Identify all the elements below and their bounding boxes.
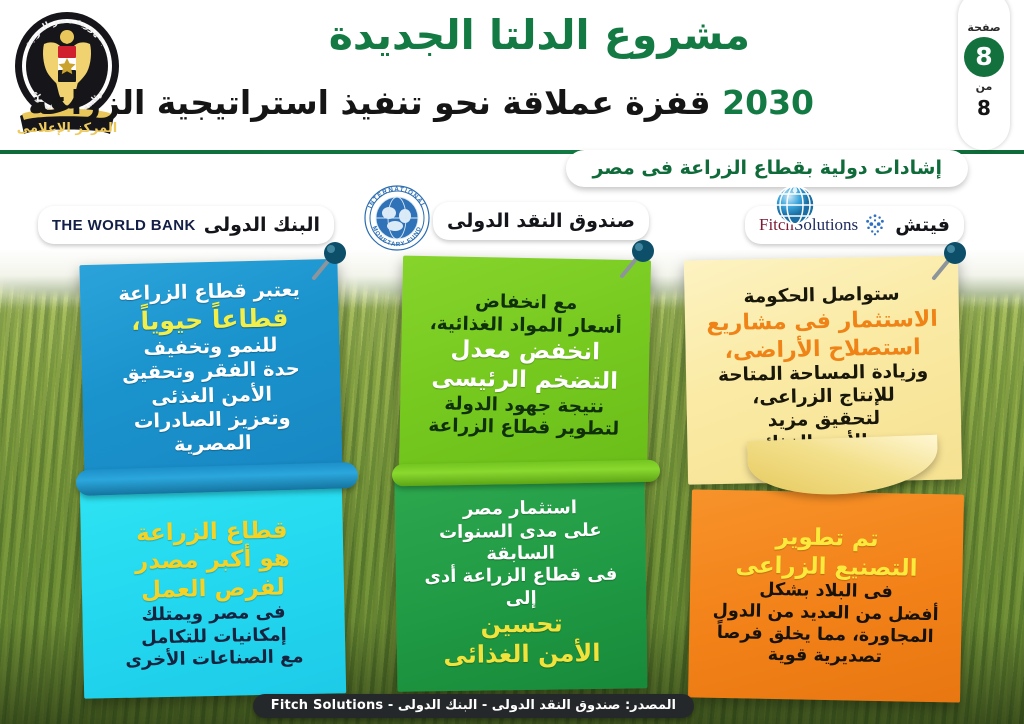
card-imf-bottom: استثمار مصر على مدى السنوات السابقة فى ق…: [395, 476, 648, 691]
page-indicator: صفحة 8 من 8: [958, 0, 1010, 150]
page-subtitle: 2030 قفزة عملاقة نحو تنفيذ استراتيجية ال…: [28, 84, 814, 122]
card-line: تصديرية قوية: [712, 644, 938, 670]
pushpin-icon-fitch: [924, 240, 968, 284]
card-line: حدة الفقر وتحقيق: [120, 357, 302, 386]
card-line-highlight: قطاع الزراعة: [122, 516, 301, 548]
infographic-page: جمهورية مصر العربية رئاسة مجلس الوزراء ا…: [0, 0, 1024, 724]
world-bank-globe-icon: [770, 180, 820, 230]
subtitle-year: 2030: [722, 83, 814, 122]
card-text: تم تطوير التصنيع الزراعى فى البلاد بشكل …: [712, 522, 941, 670]
card-line: لتطوير قطاع الزراعة: [428, 416, 620, 443]
page-title: مشروع الدلتا الجديدة: [329, 12, 750, 59]
card-roll-edge-green: [392, 460, 660, 487]
subtitle-text: قفزة عملاقة نحو تنفيذ استراتيجية الزراعة: [28, 83, 710, 122]
card-line-highlight: الاستثمار فى مشاريع: [706, 306, 938, 338]
page-indicator-current: 8: [964, 37, 1004, 77]
card-line-highlight: تم تطوير: [714, 522, 940, 555]
org-header-world-bank: البنك الدولى THE WORLD BANK: [38, 206, 334, 244]
card-line-highlight: قطاعاً حيوياً،: [119, 302, 301, 337]
card-text: ستواصل الحكومة الاستثمار فى مشاريع استصل…: [706, 283, 941, 457]
org-name-fitch: فيتش: [895, 214, 950, 236]
org-name-world-bank: البنك الدولى: [204, 214, 320, 236]
source-footer: المصدر: صندوق النقد الدولى - البنك الدول…: [253, 694, 694, 718]
card-line: فى مصر ويمتلك: [124, 601, 303, 627]
card-text: يعتبر قطاع الزراعة قطاعاً حيوياً، للنمو …: [118, 278, 304, 458]
pushpin-icon-imf: [612, 238, 656, 282]
card-line: المجاورة، مما يخلق فرصاً: [712, 622, 938, 648]
card-text: استثمار مصر على مدى السنوات السابقة فى ق…: [407, 497, 635, 671]
card-text: مع انخفاض أسعار المواد الغذائية، انخفض م…: [428, 290, 623, 442]
svg-text:المركز الإعلامى: المركز الإعلامى: [17, 121, 117, 136]
org-header-imf: صندوق النقد الدولى: [433, 202, 649, 240]
egypt-cabinet-media-center-logo: جمهورية مصر العربية رئاسة مجلس الوزراء ا…: [8, 4, 126, 144]
card-world-bank-top: يعتبر قطاع الزراعة قطاعاً حيوياً، للنمو …: [79, 259, 342, 481]
page-indicator-of: من: [976, 80, 993, 93]
pushpin-icon-world-bank: [304, 240, 348, 284]
card-line-highlight: هو أكبر مصدر: [123, 544, 302, 576]
card-line: وزيادة المساحة المتاحة: [707, 361, 939, 388]
card-line: المصرية: [122, 430, 304, 459]
world-bank-wordmark: THE WORLD BANK: [52, 217, 196, 234]
card-fitch-bottom: تم تطوير التصنيع الزراعى فى البلاد بشكل …: [688, 489, 964, 702]
card-line-highlight: الأمن الغذائى: [409, 638, 635, 671]
section-banner: إشادات دولية بقطاع الزراعة فى مصر: [566, 150, 968, 187]
card-line: مع الصناعات الأخرى: [125, 646, 304, 672]
card-line-highlight: تحسين: [408, 608, 634, 641]
card-line-highlight: التضخم الرئيسى: [428, 364, 621, 396]
card-line-highlight: لفرص العمل: [124, 573, 303, 605]
card-line-highlight: استصلاح الأراضى،: [707, 333, 939, 365]
card-world-bank-bottom: قطاع الزراعة هو أكبر مصدر لفرص العمل فى …: [80, 481, 346, 698]
card-line: استثمار مصر: [407, 497, 633, 522]
card-text: قطاع الزراعة هو أكبر مصدر لفرص العمل فى …: [122, 516, 303, 672]
card-line-highlight: انخفض معدل: [429, 336, 622, 368]
card-line: فى قطاع الزراعة أدى إلى: [408, 564, 635, 612]
card-line-highlight: التصنيع الزراعى: [713, 550, 939, 583]
card-line: على مدى السنوات السابقة: [407, 519, 634, 567]
page-indicator-total: 8: [977, 96, 991, 120]
page-indicator-label: صفحة: [967, 21, 1000, 34]
card-line: وتعزيز الصادرات: [121, 405, 303, 434]
org-name-imf: صندوق النقد الدولى: [447, 210, 635, 232]
imf-seal-icon: INTERNATIONAL MONETARY FUND: [362, 183, 432, 253]
card-imf-top: مع انخفاض أسعار المواد الغذائية، انخفض م…: [399, 256, 651, 477]
